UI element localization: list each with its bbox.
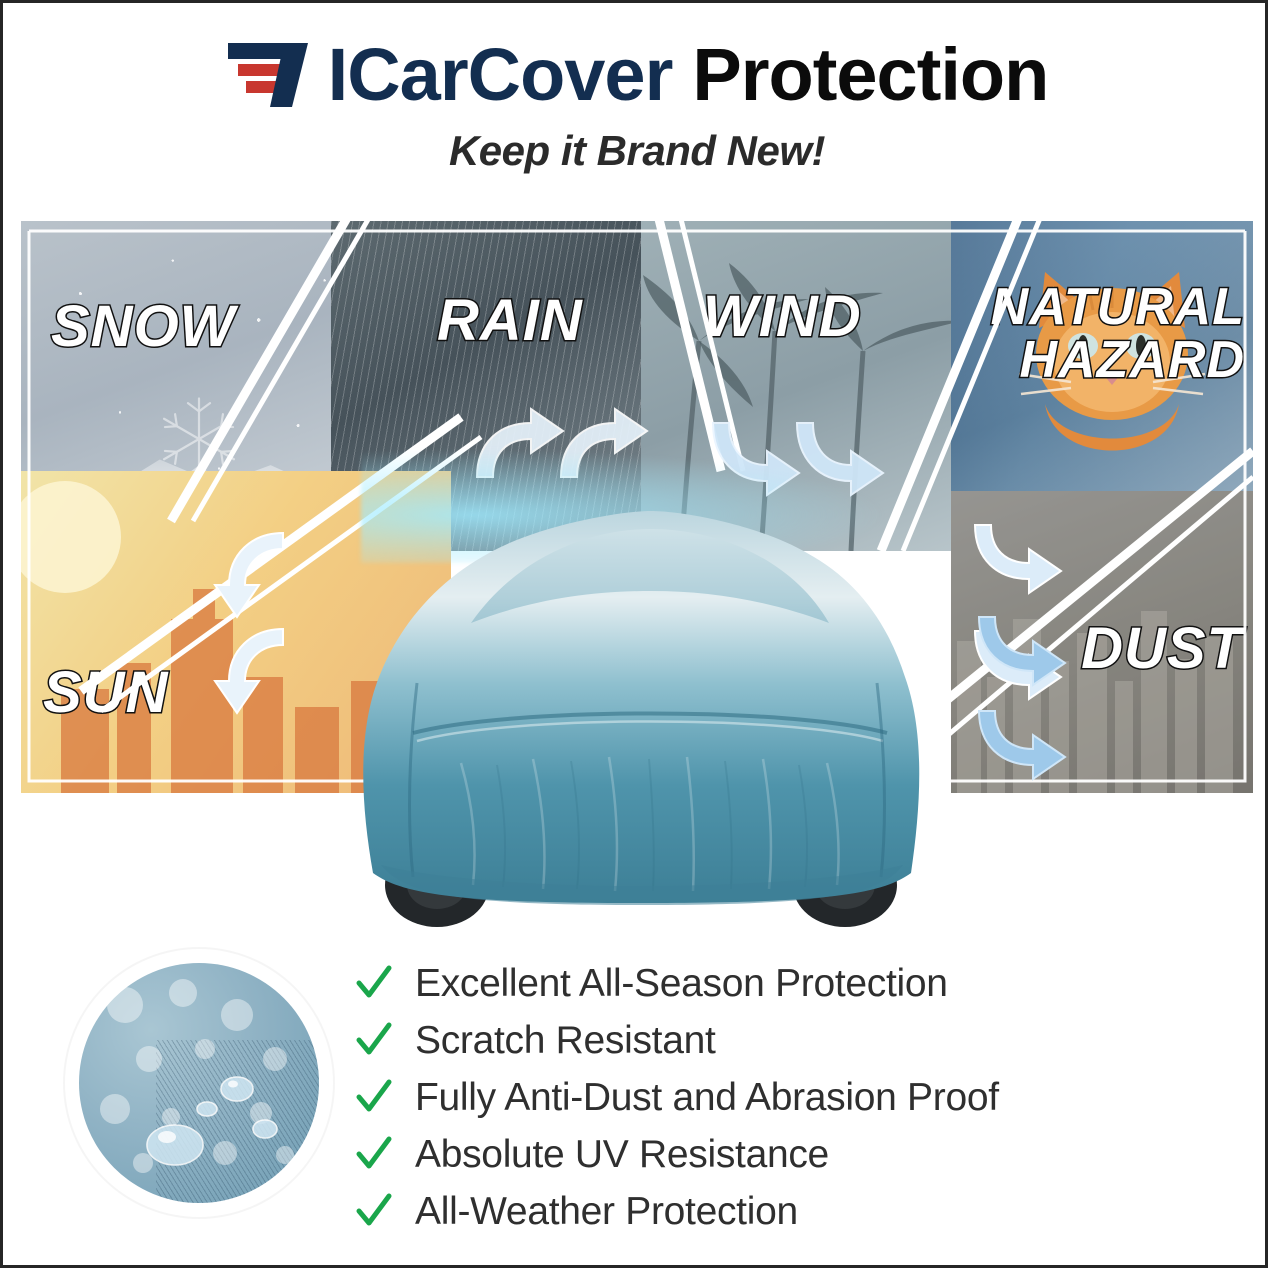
feature-label: Excellent All-Season Protection (415, 962, 948, 1006)
waterproof-fabric-closeup (79, 963, 319, 1203)
green-check-icon (355, 1022, 393, 1060)
icarcover-wing-logo-icon (226, 40, 322, 110)
green-check-icon (355, 1079, 393, 1117)
list-item: Scratch Resistant (355, 1012, 1155, 1069)
brand-suffix: Protection (692, 38, 1048, 112)
product-infographic: ICarCover Protection Keep it Brand New! (0, 0, 1268, 1268)
curved-deflect-arrow-icon-sun (133, 493, 313, 733)
feature-label: All-Weather Protection (415, 1190, 798, 1234)
green-check-icon (355, 1136, 393, 1174)
brand-name: ICarCover (328, 38, 673, 112)
green-check-icon (355, 1193, 393, 1231)
fabric-swatch (65, 949, 333, 1217)
water-droplet-icon (79, 963, 319, 1203)
feature-label: Absolute UV Resistance (415, 1133, 829, 1177)
header: ICarCover Protection Keep it Brand New! (3, 29, 1268, 175)
curved-deflect-arrow-icon-dust (965, 593, 1095, 793)
feature-label: Fully Anti-Dust and Abrasion Proof (415, 1076, 999, 1120)
brand-lockup: ICarCover Protection (3, 29, 1268, 121)
green-check-icon (355, 965, 393, 1003)
tagline: Keep it Brand New! (3, 127, 1268, 175)
feature-list: Excellent All-Season Protection Scratch … (355, 955, 1155, 1240)
list-item: Absolute UV Resistance (355, 1126, 1155, 1183)
feature-label: Scratch Resistant (415, 1019, 716, 1063)
car-with-cover (321, 433, 961, 953)
car-cover-illustration (321, 433, 961, 953)
list-item: Fully Anti-Dust and Abrasion Proof (355, 1069, 1155, 1126)
list-item: All-Weather Protection (355, 1183, 1155, 1240)
list-item: Excellent All-Season Protection (355, 955, 1155, 1012)
